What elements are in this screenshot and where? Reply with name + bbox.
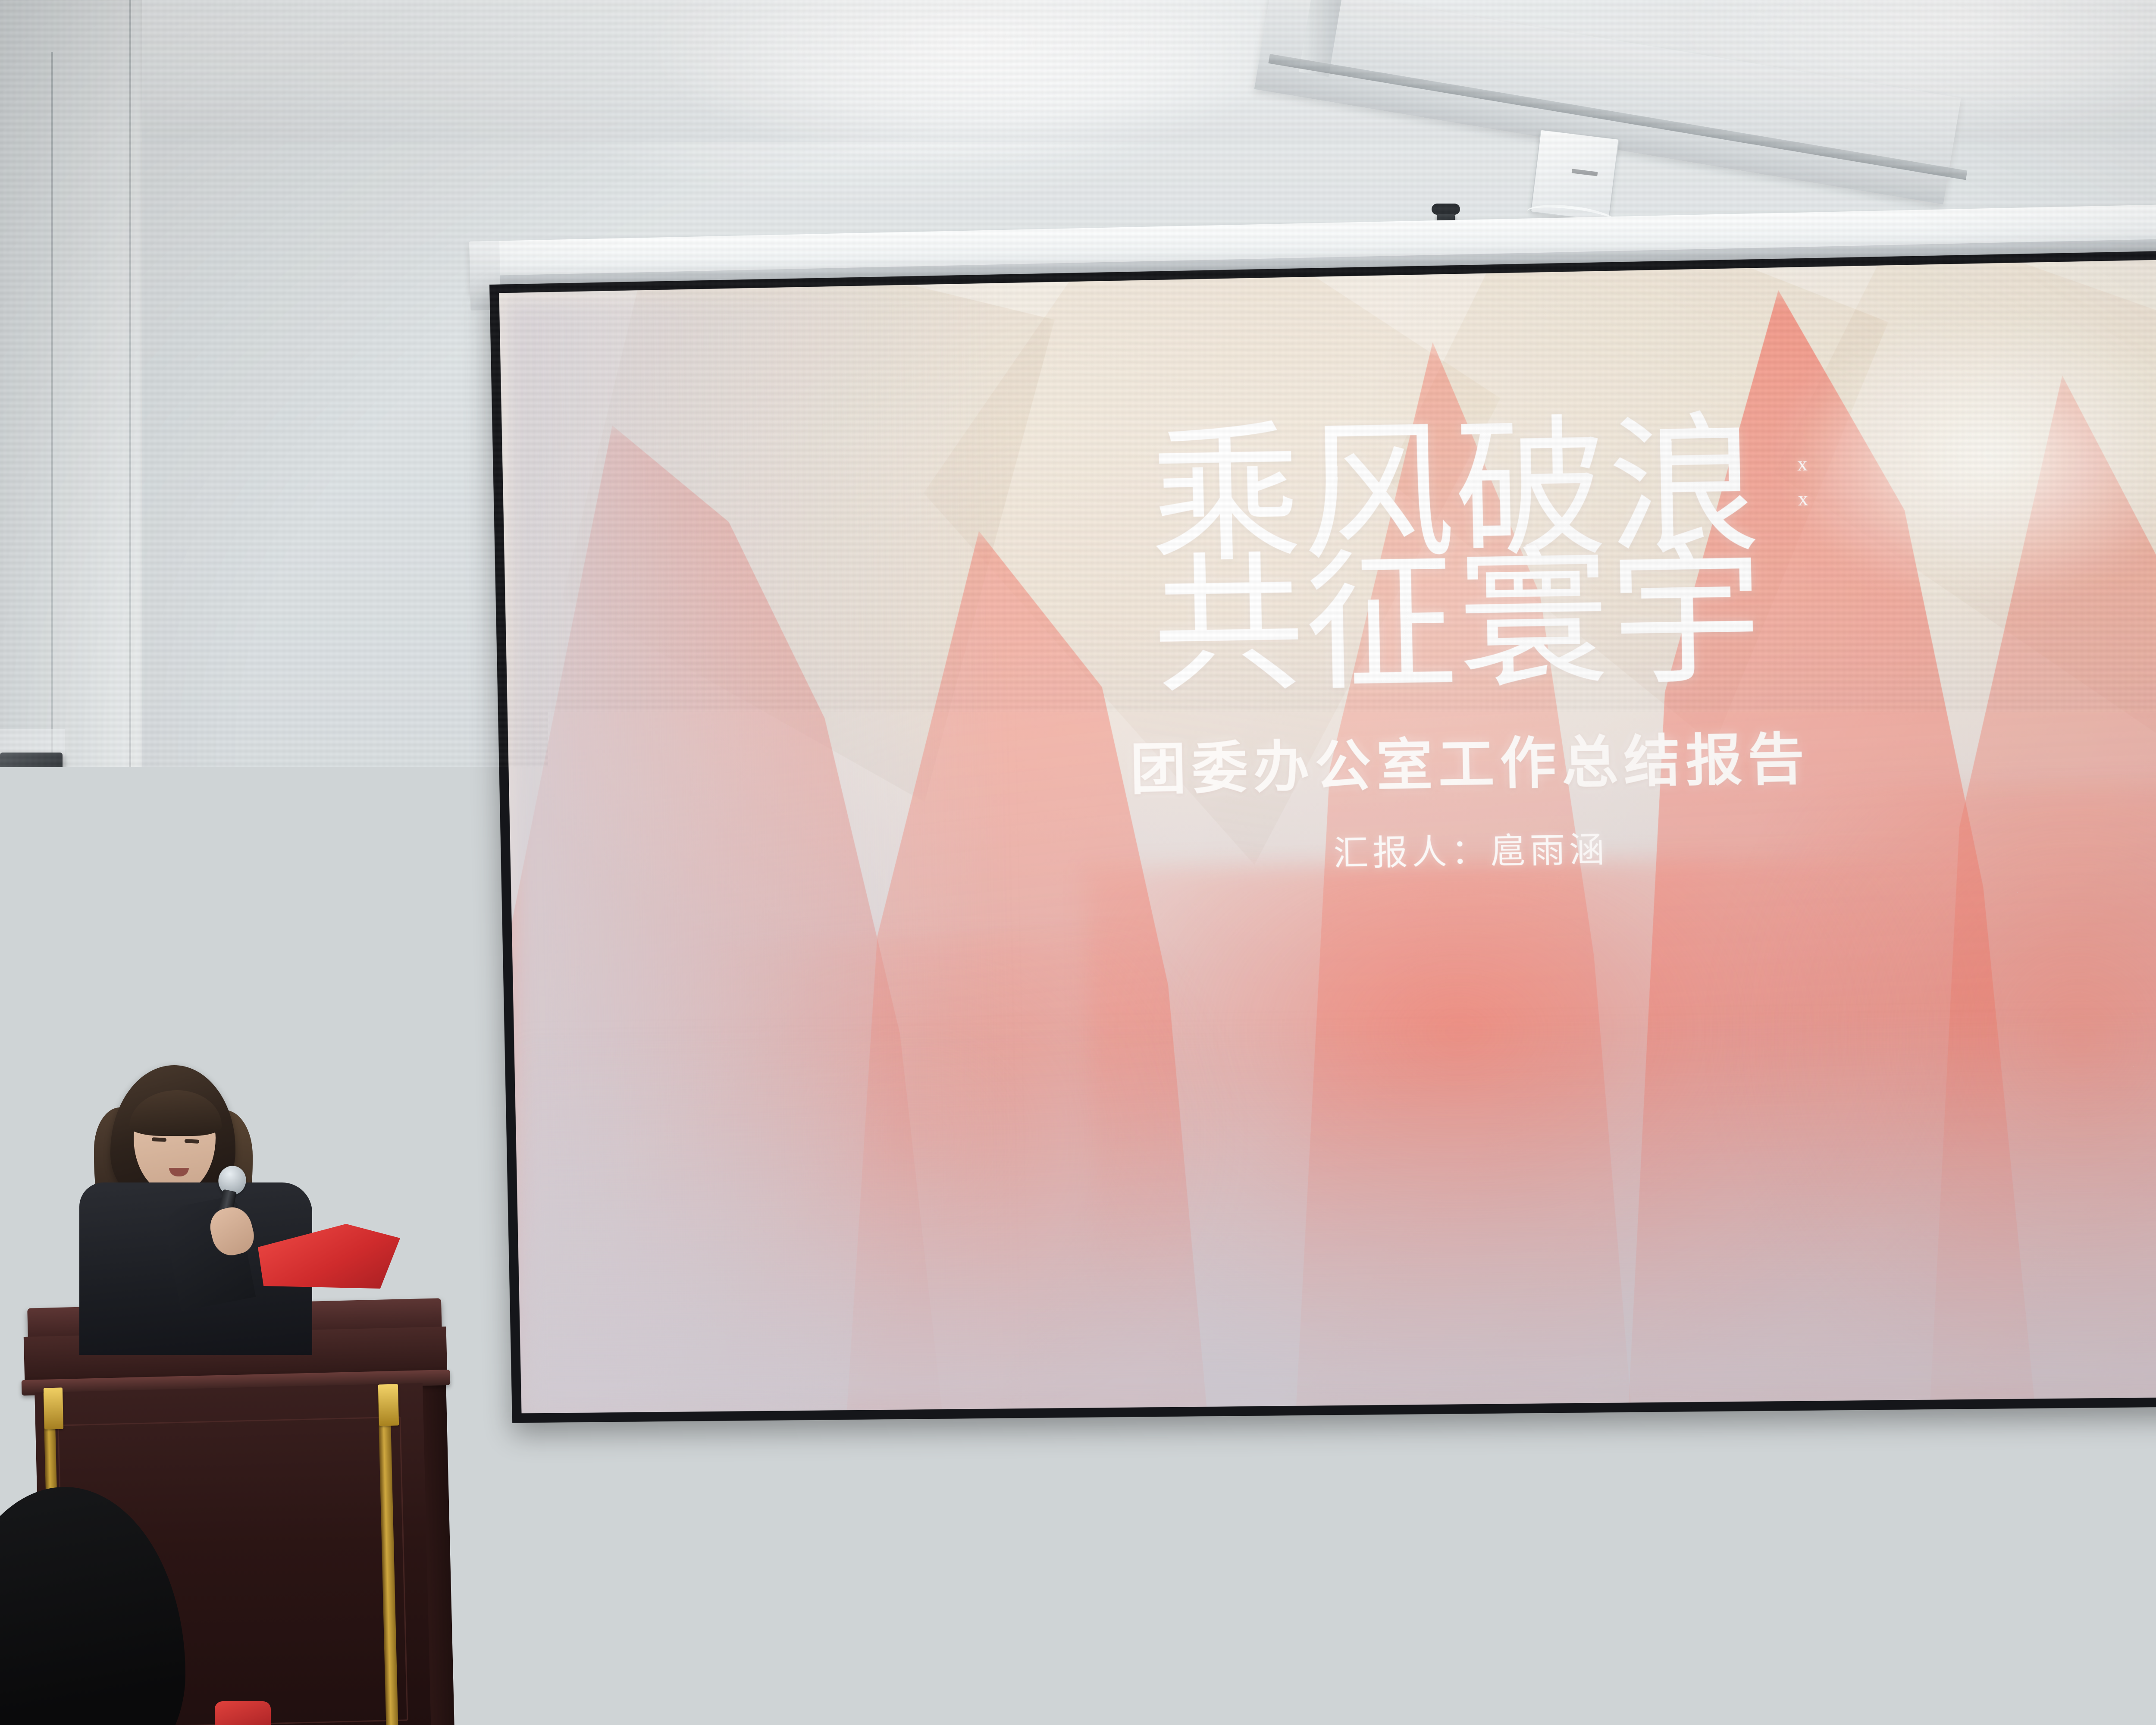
speaker-eye-left (152, 1137, 166, 1142)
wall-device-indicator (38, 802, 48, 814)
slide-corner-marks: x x (1797, 454, 1808, 509)
wall-device-slot-lower (3, 800, 28, 808)
photo-scene: 乘风破浪 共征寰宇 x x 团委办公室工作总结报告 汇报人：扈雨涵 (0, 0, 2156, 1725)
slide-subtitle: 团委办公室工作总结报告 (1129, 714, 1811, 805)
corner-mark-1: x (1797, 454, 1808, 474)
podium-gold-capital-left (44, 1387, 63, 1429)
slide-headline-line-2: 共征寰宇 (1151, 545, 1774, 701)
presentation-slide: 乘风破浪 共征寰宇 x x 团委办公室工作总结报告 汇报人：扈雨涵 (499, 254, 2156, 1414)
ceiling-sensor-mount (1432, 204, 1460, 215)
projection-screen-frame: 乘风破浪 共征寰宇 x x 团委办公室工作总结报告 汇报人：扈雨涵 (489, 245, 2156, 1423)
podium-gold-capital-right (378, 1384, 399, 1426)
wall-device-slot (4, 776, 34, 786)
audience-red-item (215, 1701, 271, 1725)
speaker-eye-right (185, 1139, 199, 1144)
projection-screen-surface: 乘风破浪 共征寰宇 x x 团委办公室工作总结报告 汇报人：扈雨涵 (499, 254, 2156, 1414)
slide-headline: 乘风破浪 共征寰宇 x x (1157, 414, 1774, 700)
slide-text-block: 乘风破浪 共征寰宇 x x 团委办公室工作总结报告 汇报人：扈雨涵 (499, 254, 2156, 1414)
corner-mark-2: x (1798, 489, 1808, 509)
ceiling-light-glare (647, 0, 1294, 164)
speaker-person (69, 1065, 336, 1341)
slide-presenter-line: 汇报人：扈雨涵 (1333, 821, 1609, 875)
